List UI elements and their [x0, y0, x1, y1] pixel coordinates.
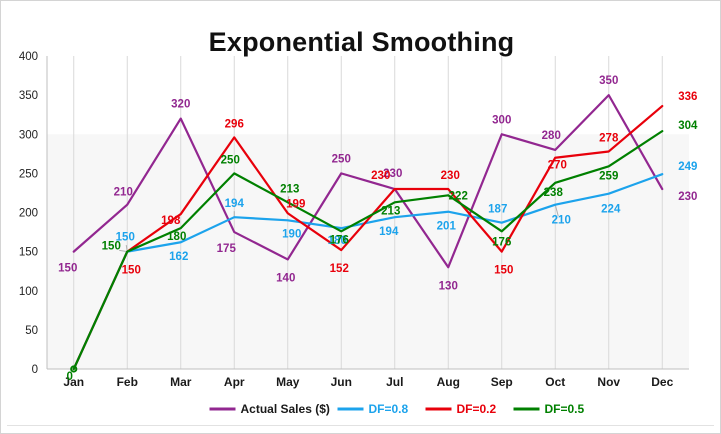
x-tick-Oct: Oct — [545, 375, 565, 389]
point-label-actual-sales--Nov: 350 — [599, 75, 618, 87]
point-label-df-0.8-May: 190 — [282, 228, 301, 240]
point-label-actual-sales--Apr: 175 — [217, 243, 237, 255]
y-tick-350: 350 — [19, 90, 38, 102]
y-tick-50: 50 — [25, 325, 38, 337]
point-label-actual-sales--Sep: 300 — [492, 114, 511, 126]
x-tick-Apr: Apr — [224, 375, 245, 389]
point-label-df-0.5-May: 213 — [280, 183, 299, 195]
point-label-df-0.8-Dec: 249 — [678, 161, 697, 173]
point-label-df-0.5-Sep: 176 — [492, 236, 511, 248]
point-label-df-0.5-Jan: 0 — [67, 371, 73, 383]
point-label-actual-sales--Aug: 130 — [439, 280, 458, 292]
x-tick-Feb: Feb — [117, 375, 138, 389]
x-axis-tick-labels: JanFebMarAprMayJunJulAugSepOctNovDec — [63, 375, 673, 389]
y-tick-400: 400 — [19, 51, 38, 63]
point-label-df-0.8-Aug: 201 — [437, 221, 457, 233]
y-tick-250: 250 — [19, 168, 38, 180]
point-label-actual-sales--Mar: 320 — [171, 99, 190, 111]
point-label-actual-sales--Feb: 210 — [114, 187, 133, 199]
x-tick-May: May — [276, 375, 300, 389]
x-tick-Nov: Nov — [597, 375, 620, 389]
point-label-df-0.2-Jun: 152 — [330, 263, 349, 275]
point-label-df-0.2-Dec: 336 — [678, 91, 697, 103]
point-label-df-0.2-Mar: 198 — [161, 215, 181, 227]
point-label-df-0.8-Oct: 210 — [552, 215, 571, 227]
point-label-df-0.2-Nov: 278 — [599, 132, 619, 144]
point-label-df-0.2-Oct: 270 — [548, 160, 567, 172]
plot-area-shading — [47, 134, 689, 369]
point-label-actual-sales--May: 140 — [276, 272, 295, 284]
point-label-actual-sales--Jan: 150 — [58, 263, 77, 275]
point-label-df-0.5-Oct: 238 — [544, 187, 564, 199]
point-label-df-0.5-Aug: 222 — [449, 190, 468, 202]
x-tick-Sep: Sep — [491, 375, 513, 389]
exponential-smoothing-chart: Exponential Smoothing 050100150200250300… — [0, 0, 721, 434]
point-label-df-0.2-Jul: 230 — [371, 170, 390, 182]
legend-separator — [7, 425, 714, 426]
y-axis-tick-labels: 050100150200250300350400 — [19, 51, 38, 376]
legend-label-df-0.2[interactable]: DF=0.2 — [457, 402, 497, 416]
x-tick-Jun: Jun — [331, 375, 352, 389]
point-label-df-0.2-Feb: 150 — [122, 265, 141, 277]
point-label-df-0.5-Apr: 250 — [221, 154, 240, 166]
x-tick-Jul: Jul — [386, 375, 403, 389]
point-label-df-0.8-Apr: 194 — [225, 198, 245, 210]
y-tick-200: 200 — [19, 208, 38, 220]
point-label-df-0.8-Nov: 224 — [601, 204, 621, 216]
point-label-actual-sales--Oct: 280 — [542, 130, 561, 142]
plot-background — [47, 134, 689, 369]
point-label-df-0.5-Dec: 304 — [678, 120, 698, 132]
y-tick-100: 100 — [19, 286, 38, 298]
point-label-df-0.2-Aug: 230 — [441, 170, 460, 182]
point-label-actual-sales--Dec: 230 — [678, 191, 697, 203]
point-label-df-0.8-Jul: 194 — [379, 226, 399, 238]
point-label-df-0.5-Jun: 176 — [330, 234, 349, 246]
point-label-df-0.2-May: 199 — [286, 198, 305, 210]
point-label-df-0.5-Feb: 150 — [102, 241, 121, 253]
chart-plot-svg: 050100150200250300350400 JanFebMarAprMay… — [1, 1, 721, 434]
point-label-df-0.8-Sep: 187 — [488, 204, 507, 216]
chart-legend: Actual Sales ($)DF=0.8DF=0.2DF=0.5 — [210, 402, 585, 416]
legend-label-actual-sales-[interactable]: Actual Sales ($) — [241, 402, 330, 416]
x-tick-Dec: Dec — [651, 375, 673, 389]
y-tick-300: 300 — [19, 129, 38, 141]
legend-label-df-0.5[interactable]: DF=0.5 — [545, 402, 585, 416]
point-label-df-0.5-Mar: 180 — [167, 231, 186, 243]
y-tick-150: 150 — [19, 247, 38, 259]
point-label-df-0.8-Mar: 162 — [169, 251, 188, 263]
point-label-df-0.2-Sep: 150 — [494, 265, 513, 277]
point-label-df-0.5-Nov: 259 — [599, 170, 618, 182]
point-label-df-0.5-Jul: 213 — [381, 205, 400, 217]
x-tick-Aug: Aug — [437, 375, 460, 389]
x-tick-Mar: Mar — [170, 375, 192, 389]
legend-label-df-0.8[interactable]: DF=0.8 — [369, 402, 409, 416]
point-label-df-0.2-Apr: 296 — [225, 118, 244, 130]
y-tick-0: 0 — [32, 364, 38, 376]
point-label-actual-sales--Jun: 250 — [332, 153, 351, 165]
